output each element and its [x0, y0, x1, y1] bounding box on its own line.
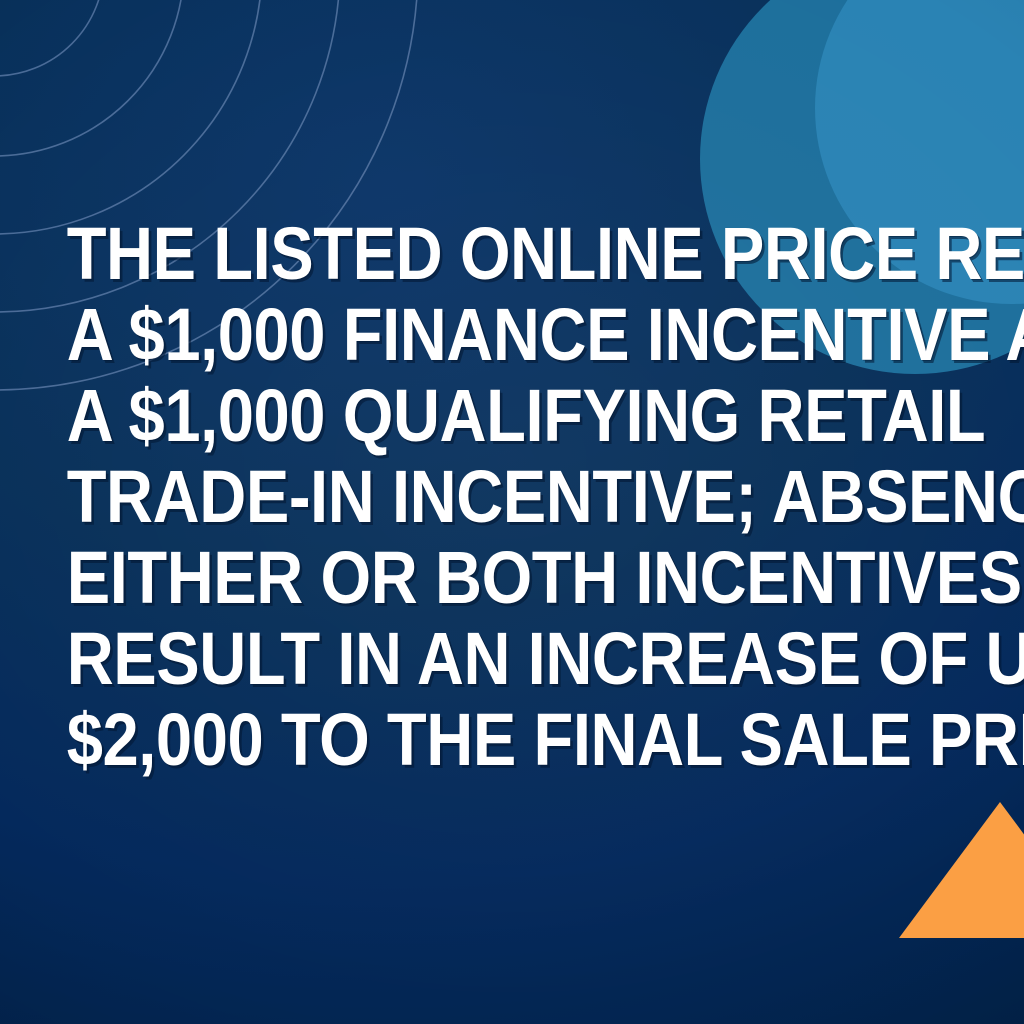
headline-line-6: RESULT IN AN INCREASE OF UP TO	[67, 618, 958, 699]
headline-line-5: EITHER OR BOTH INCENTIVES WILL	[67, 537, 958, 618]
disclaimer-headline: THE LISTED ONLINE PRICE REFLECTS A $1,00…	[0, 213, 1024, 780]
headline-line-1: THE LISTED ONLINE PRICE REFLECTS	[67, 213, 958, 294]
headline-line-7: $2,000 TO THE FINAL SALE PRICE.	[67, 699, 958, 780]
headline-line-4: TRADE-IN INCENTIVE; ABSENCE OF	[67, 456, 958, 537]
headline-line-2: A $1,000 FINANCE INCENTIVE AND	[67, 294, 958, 375]
orange-triangle-decoration	[899, 802, 1024, 938]
promotional-disclaimer-graphic: THE LISTED ONLINE PRICE REFLECTS A $1,00…	[0, 0, 1024, 1024]
headline-line-3: A $1,000 QUALIFYING RETAIL	[67, 375, 958, 456]
